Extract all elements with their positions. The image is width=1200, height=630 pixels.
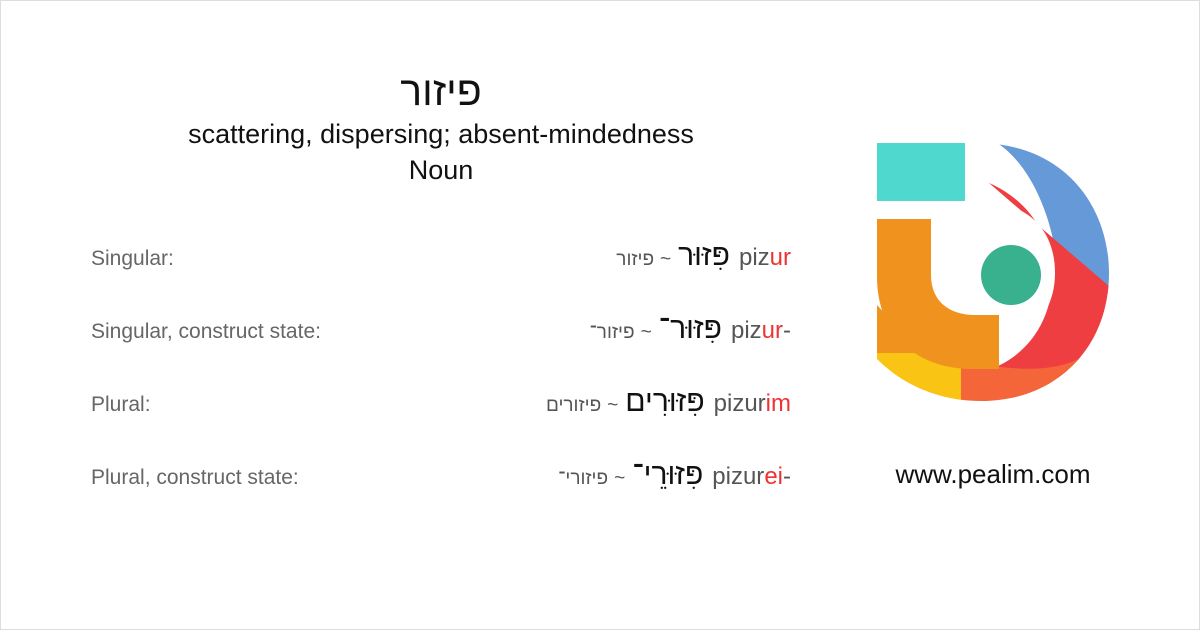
- translit-plain: piz: [731, 317, 762, 344]
- row-label-plural-construct: Plural, construct state:: [1, 466, 326, 490]
- row-label-singular: Singular:: [1, 247, 326, 271]
- transliteration: pizurim: [705, 390, 791, 417]
- table-row: Plural: פיזורים~פִּזּוּרִיםpizurim: [1, 385, 881, 458]
- form-separator: ~: [654, 249, 678, 270]
- row-value-singular-construct: פיזור־~פִּזּוּר־pizur-: [326, 312, 881, 346]
- vocalized-form: פִּזּוּרֵי־: [632, 458, 703, 491]
- translit-suffix: -: [783, 463, 791, 490]
- translit-plain: pizur: [714, 390, 766, 417]
- translit-highlight: ur: [770, 244, 791, 271]
- form-separator: ~: [608, 468, 632, 489]
- translit-plain: piz: [739, 244, 770, 271]
- translit-suffix: -: [783, 317, 791, 344]
- pealim-logo: [869, 123, 1117, 405]
- translit-highlight: ur: [762, 317, 783, 344]
- form-separator: ~: [635, 322, 659, 343]
- transliteration: pizurei-: [703, 463, 791, 490]
- plain-form: פיזור־: [590, 322, 635, 343]
- row-label-singular-construct: Singular, construct state:: [1, 320, 326, 344]
- plain-form: פיזורי־: [558, 468, 608, 489]
- page-title-hebrew: פיזור: [1, 67, 881, 115]
- row-value-plural-construct: פיזורי־~פִּזּוּרֵי־pizurei-: [326, 458, 881, 492]
- part-of-speech: Noun: [1, 152, 881, 188]
- translit-highlight: im: [766, 390, 791, 417]
- vocalized-form: פִּזּוּר: [678, 239, 730, 272]
- table-row: Plural, construct state: פיזורי־~פִּזּוּ…: [1, 458, 881, 531]
- plain-form: פיזור: [616, 249, 654, 270]
- row-label-plural: Plural:: [1, 393, 326, 417]
- translit-plain: pizur: [712, 463, 764, 490]
- table-row: Singular: פיזור~פִּזּוּרpizur: [1, 239, 881, 312]
- pealim-pe-letter-icon: [869, 123, 1117, 405]
- transliteration: pizur: [730, 244, 791, 271]
- form-separator: ~: [601, 395, 625, 416]
- plain-form: פיזורים: [546, 395, 601, 416]
- site-url: www.pealim.com: [869, 459, 1117, 490]
- row-value-singular: פיזור~פִּזּוּרpizur: [326, 239, 881, 273]
- vocalized-form: פִּזּוּר־: [659, 312, 722, 345]
- vocalized-form: פִּזּוּרִים: [625, 385, 704, 418]
- pealim-word-card: פיזור scattering, dispersing; absent-min…: [0, 0, 1200, 630]
- row-value-plural: פיזורים~פִּזּוּרִיםpizurim: [326, 385, 881, 419]
- inflection-table: Singular: פיזור~פִּזּוּרpizur Singular, …: [1, 239, 881, 531]
- transliteration: pizur-: [722, 317, 791, 344]
- word-meaning: scattering, dispersing; absent-mindednes…: [1, 116, 881, 152]
- translit-highlight: ei: [764, 463, 783, 490]
- logo-dot-green-icon: [981, 245, 1041, 305]
- word-header: פיזור scattering, dispersing; absent-min…: [1, 67, 881, 188]
- table-row: Singular, construct state: פיזור־~פִּזּו…: [1, 312, 881, 385]
